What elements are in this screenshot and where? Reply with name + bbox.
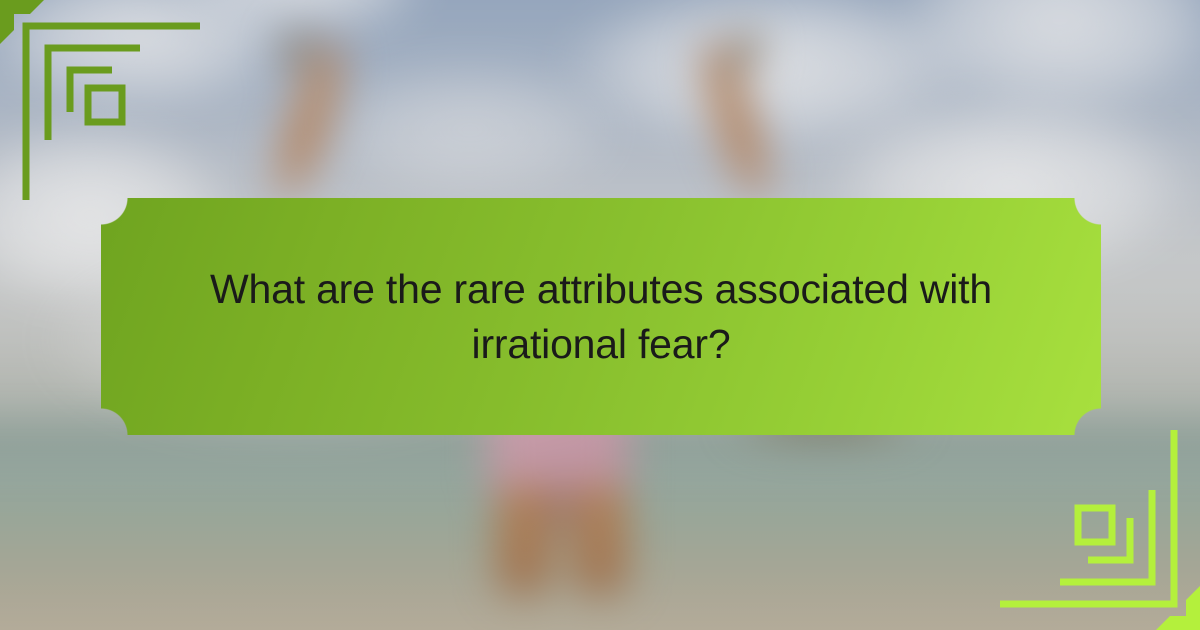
quote-card: What are the rare attributes associated … [101,198,1101,435]
quote-text: What are the rare attributes associated … [191,262,1011,372]
social-quote-card: What are the rare attributes associated … [0,0,1200,630]
corner-ornament-bottom-right-icon [1000,430,1200,630]
corner-ornament-top-left-icon [0,0,200,200]
